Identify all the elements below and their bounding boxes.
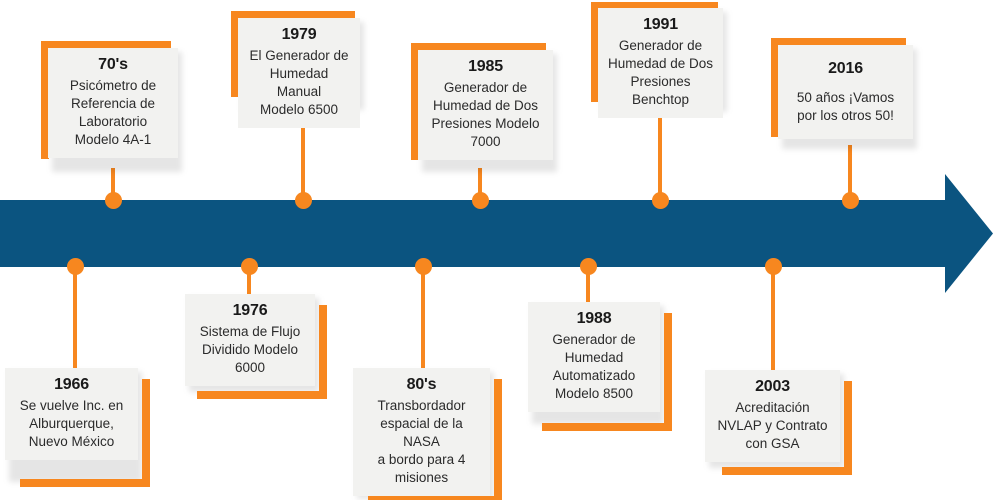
node-dot-80s	[415, 258, 432, 275]
event-card-1979[interactable]: 1979 El Generador de Humedad Manual Mode…	[238, 18, 360, 128]
event-text-1979: El Generador de Humedad Manual Modelo 65…	[247, 47, 351, 119]
event-year-2016: 2016	[787, 59, 904, 80]
event-text-1985: Generador de Humedad de Dos Presiones Mo…	[427, 79, 544, 151]
event-year-80s: 80's	[362, 375, 481, 396]
event-card-80s[interactable]: 80's Transbordador espacial de la NASA a…	[353, 368, 490, 496]
event-text-80s: Transbordador espacial de la NASA a bord…	[362, 397, 481, 487]
node-dot-1966	[67, 258, 84, 275]
node-dot-1976	[241, 258, 258, 275]
event-card-2003[interactable]: 2003 Acreditación NVLAP y Contrato con G…	[705, 370, 840, 462]
timeline-arrow-head	[905, 174, 993, 293]
card-accent-80s-bottom	[368, 496, 502, 500]
event-card-1991[interactable]: 1991 Generador de Humedad de Dos Presion…	[598, 8, 723, 118]
card-accent-1966-bottom	[20, 479, 150, 487]
event-text-1966: Se vuelve Inc. en Alburquerque, Nuevo Mé…	[14, 397, 129, 451]
event-text-1976: Sistema de Flujo Dividido Modelo 6000	[194, 323, 306, 377]
card-accent-1976-right	[319, 305, 327, 399]
event-year-1988: 1988	[537, 309, 651, 330]
event-card-70s[interactable]: 70's Psicómetro de Referencia de Laborat…	[48, 48, 178, 158]
card-accent-1966-right	[142, 379, 150, 487]
event-year-1966: 1966	[14, 375, 129, 396]
node-dot-70s	[105, 192, 122, 209]
node-dot-2003	[765, 258, 782, 275]
timeline-arrow-bar	[0, 200, 912, 267]
timeline-infographic: 70's Psicómetro de Referencia de Laborat…	[0, 0, 1000, 500]
node-dot-1988	[580, 258, 597, 275]
event-year-1991: 1991	[607, 15, 714, 36]
event-year-70s: 70's	[57, 55, 169, 76]
event-card-1976[interactable]: 1976 Sistema de Flujo Dividido Modelo 60…	[185, 294, 315, 386]
node-dot-1985	[472, 192, 489, 209]
event-year-1976: 1976	[194, 301, 306, 322]
card-accent-1976-bottom	[197, 391, 327, 399]
event-text-2016: 50 años ¡Vamos por los otros 50!	[787, 89, 904, 125]
card-accent-80s-right	[494, 379, 502, 500]
event-year-1979: 1979	[247, 25, 351, 46]
card-accent-1988-right	[664, 313, 672, 431]
connector-1991	[658, 110, 662, 204]
event-card-2016[interactable]: 2016 50 años ¡Vamos por los otros 50!	[778, 45, 913, 139]
event-card-1985[interactable]: 1985 Generador de Humedad de Dos Presion…	[418, 50, 553, 160]
event-text-2003: Acreditación NVLAP y Contrato con GSA	[714, 399, 831, 453]
connector-2003	[771, 264, 775, 372]
card-accent-2003-right	[844, 381, 852, 475]
node-dot-2016	[842, 192, 859, 209]
event-text-1988: Generador de Humedad Automatizado Modelo…	[537, 331, 651, 403]
event-card-1988[interactable]: 1988 Generador de Humedad Automatizado M…	[528, 302, 660, 412]
event-year-1985: 1985	[427, 57, 544, 78]
event-text-1991: Generador de Humedad de Dos Presiones Be…	[607, 37, 714, 109]
event-text-70s: Psicómetro de Referencia de Laboratorio …	[57, 77, 169, 149]
event-year-2003: 2003	[714, 377, 831, 398]
connector-80s	[421, 264, 425, 370]
event-card-1966[interactable]: 1966 Se vuelve Inc. en Alburquerque, Nue…	[5, 368, 138, 460]
card-accent-2003-bottom	[722, 467, 852, 475]
connector-1966	[73, 264, 77, 370]
node-dot-1991	[652, 192, 669, 209]
card-accent-1988-bottom	[542, 423, 672, 431]
node-dot-1979	[295, 192, 312, 209]
